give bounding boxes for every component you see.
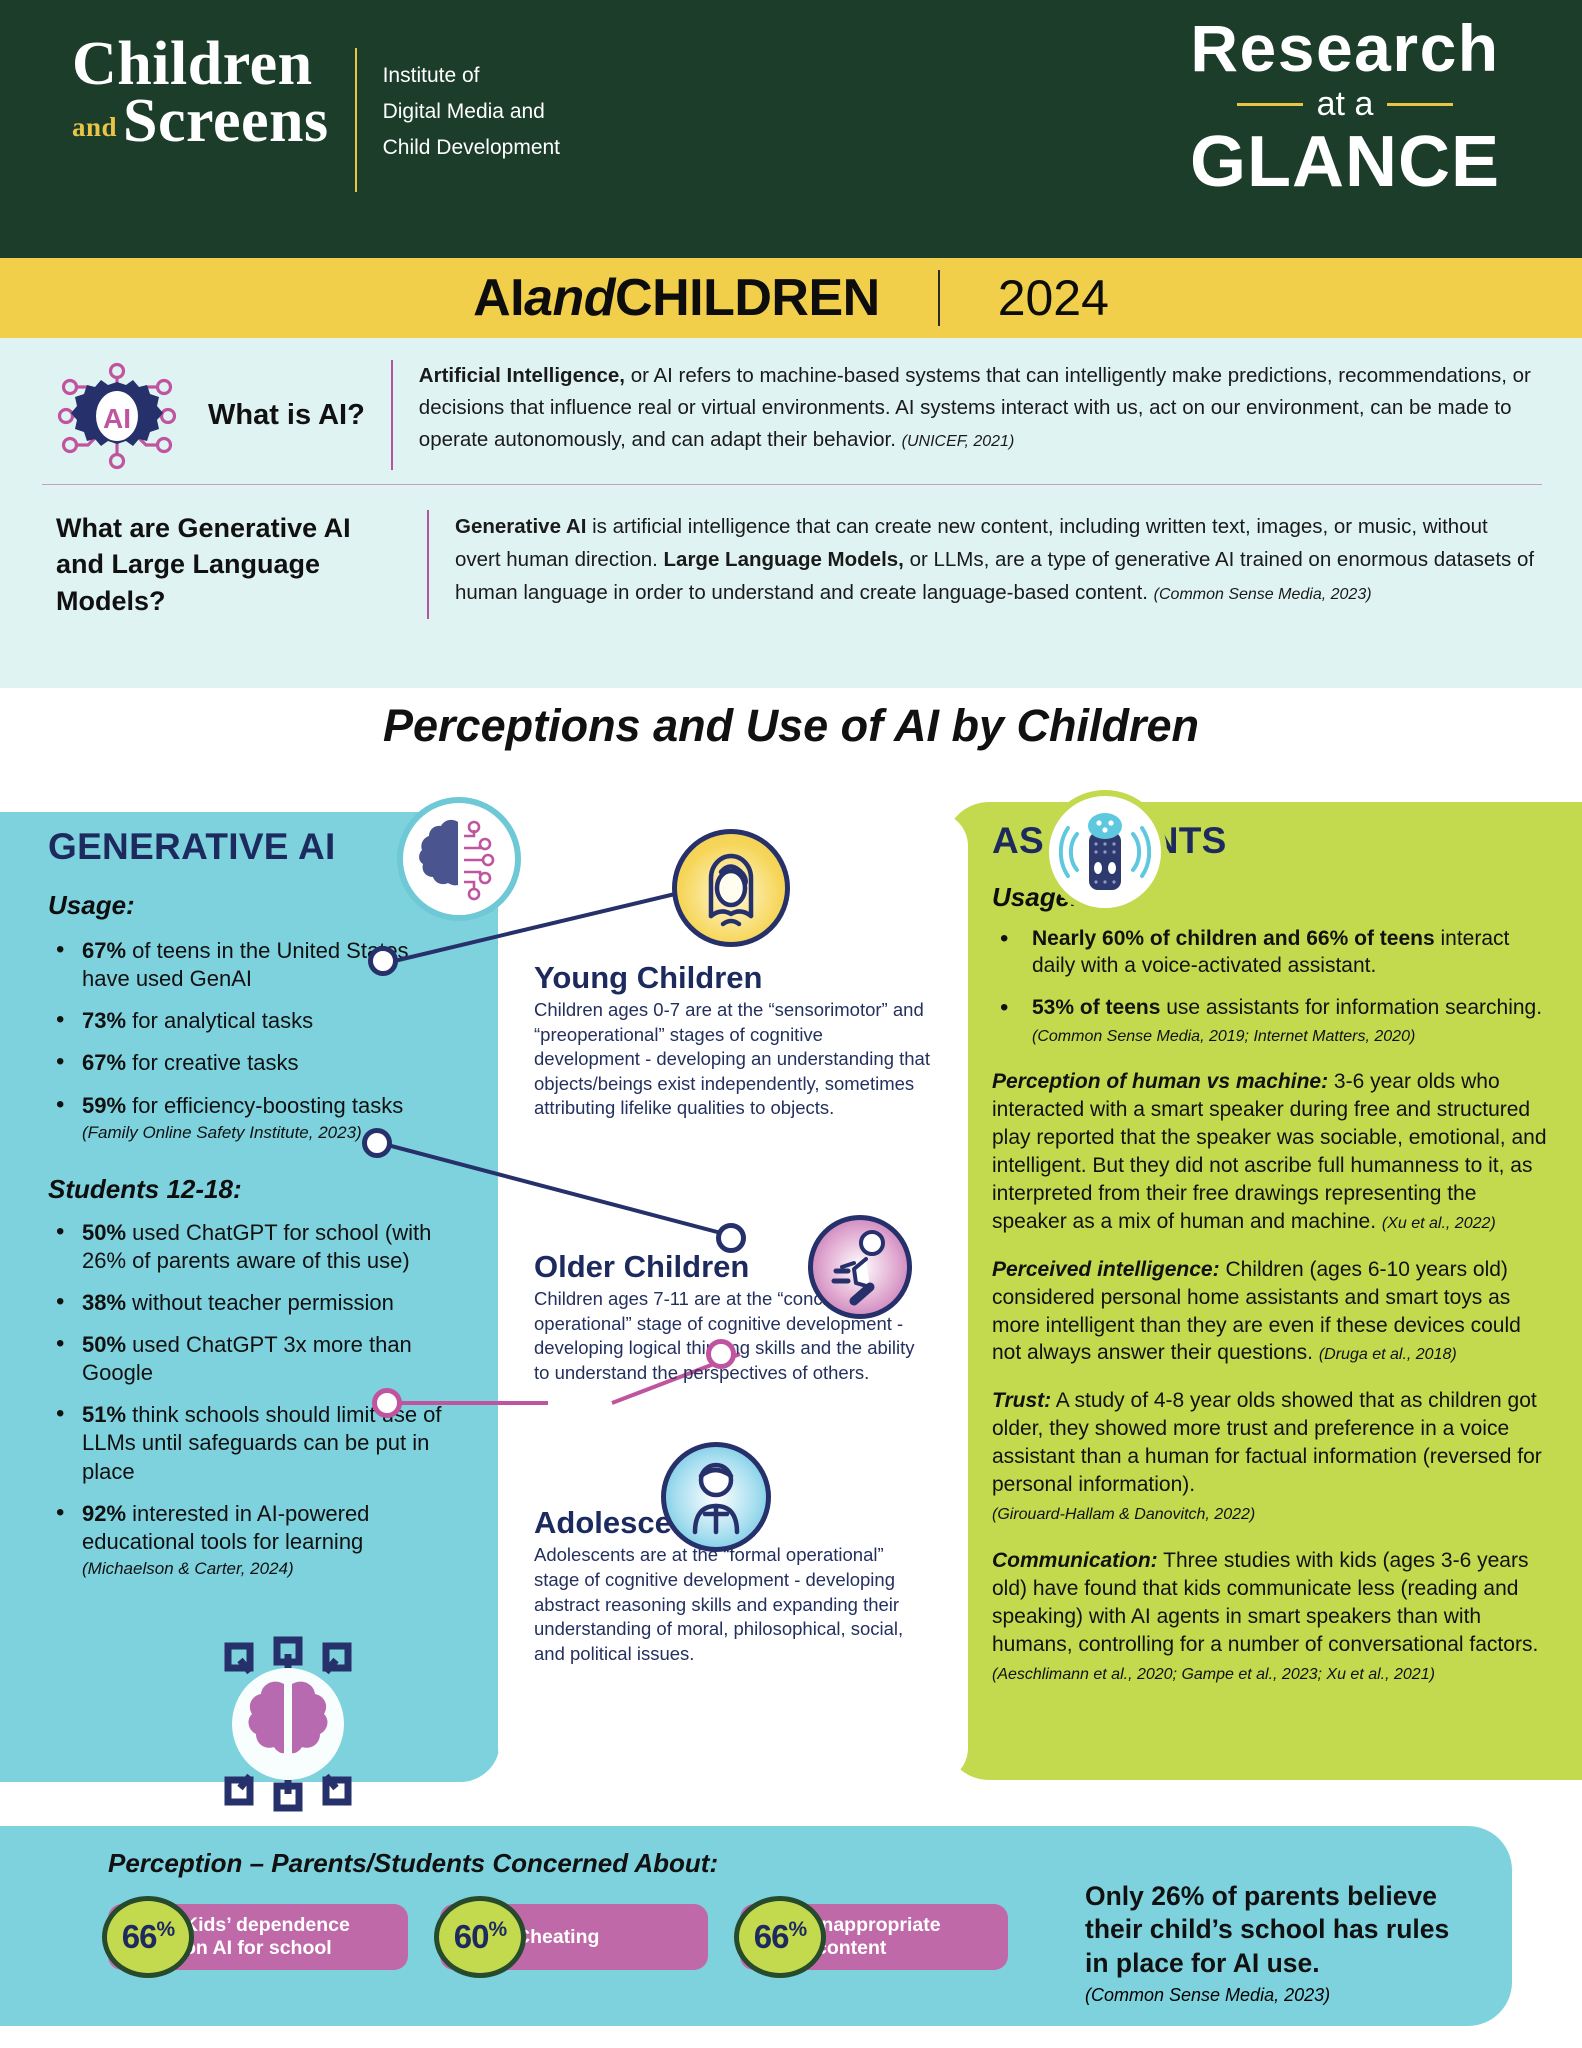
age-body-young: Children ages 0-7 are at the “sensorimot… [534,998,934,1121]
logo-line-screens: Screens [123,93,329,150]
pill-label-1-line1: Cheating [516,1926,599,1949]
concern-pill-cheating: Cheating 60% [440,1900,708,1974]
connector-node-adolescent-end [706,1339,736,1369]
genai-citation: (Common Sense Media, 2023) [1154,586,1372,603]
riag-at-a-text: at a [1317,85,1374,124]
pill-percent-value-2: 66 [754,1918,789,1955]
riag-rule-right [1387,103,1453,106]
pill-percent-2: 66% [754,1918,806,1956]
pill-label-0-line2: on AI for school [184,1937,350,1960]
what-is-ai-row: AI What is AI? Artificial Intelligence, … [42,360,1542,470]
generative-ai-definition-row: What are Generative AI and Large Languag… [56,510,1546,619]
pill-label-0: Kids’ dependence on AI for school [184,1914,350,1960]
title-and: and [524,269,615,327]
svg-text:AI: AI [103,403,131,434]
brain-circuit-icon [397,797,521,921]
genai-bold-2: Large Language Models, [664,548,904,571]
logo-subtitle-line-2: Digital Media and [383,94,560,130]
infographic-page: Children and Screens Institute of Digita… [0,0,1582,2048]
smart-speaker-icon [1043,790,1167,914]
only26-line2: their child’s school has rules [1085,1913,1515,1946]
logo-subtitle-line-3: Child Development [383,130,560,166]
young-child-icon [672,829,790,947]
definition-divider-1 [391,360,393,470]
connector-node-adolescent [372,1388,402,1418]
children-and-screens-logo: Children and Screens Institute of Digita… [72,36,560,192]
title-ai: AI [473,269,524,327]
what-is-ai-label: What is AI? [208,399,365,432]
pill-percent-circle-2: 66% [734,1896,826,1978]
perception-title: Perception – Parents/Students Concerned … [108,1848,718,1879]
definitions-horizontal-rule [42,484,1542,485]
pill-percent-circle-1: 60% [434,1896,526,1978]
age-body-adolescents: Adolescents are at the “formal operation… [534,1543,934,1666]
definition-divider-2 [427,510,429,619]
pill-label-2-line2: content [816,1937,941,1960]
research-at-a-glance-badge: Research at a GLANCE [1160,14,1530,198]
pill-percent-1: 60% [454,1918,506,1956]
only26-citation: (Common Sense Media, 2023) [1085,1985,1515,2006]
definitions-section: AI What is AI? Artificial Intelligence, … [0,338,1582,688]
connector-node-older-end [716,1223,746,1253]
logo-subtitle-line-1: Institute of [383,58,560,94]
age-title-young: Young Children [534,960,934,996]
only26-line3: in place for AI use. [1085,1947,1515,1980]
connector-node-young [368,946,398,976]
only26-line1: Only 26% of parents believe [1085,1880,1515,1913]
adolescent-icon [661,1442,771,1552]
title-bar: AIandCHILDREN 2024 [0,258,1582,338]
title-children: CHILDREN [615,269,880,327]
page-header: Children and Screens Institute of Digita… [0,0,1582,258]
logo-line-children: Children [72,36,329,93]
title-year: 2024 [998,269,1109,327]
what-is-ai-bold: Artificial Intelligence, [419,364,625,387]
pill-percent-circle-0: 66% [102,1896,194,1978]
logo-wordmark: Children and Screens [72,36,329,150]
riag-rule-left [1237,103,1303,106]
what-is-ai-body: Artificial Intelligence, or AI refers to… [419,360,1542,470]
connector-node-older [362,1128,392,1158]
pill-label-2: Inappropriate content [816,1914,941,1960]
older-child-running-icon [808,1215,912,1319]
genai-bold-1: Generative AI [455,515,586,538]
pill-label-1: Cheating [516,1926,599,1949]
concern-pill-dependence: Kids’ dependence on AI for school 66% [108,1900,408,1974]
age-group-young-children: Young Children Children ages 0-7 are at … [534,960,934,1121]
what-is-ai-citation: (UNICEF, 2021) [902,433,1015,450]
page-title: AIandCHILDREN [473,268,880,328]
pill-percent-value-1: 60 [454,1918,489,1955]
pill-label-2-line1: Inappropriate [816,1914,941,1937]
riag-glance-text: GLANCE [1160,126,1530,198]
concern-pill-inappropriate: Inappropriate content 66% [740,1900,1008,1974]
section-title-perceptions: Perceptions and Use of AI by Children [0,700,1582,752]
ai-gear-network-icon: AI [42,360,192,470]
logo-subtitle: Institute of Digital Media and Child Dev… [383,58,560,166]
pill-label-0-line1: Kids’ dependence [184,1914,350,1937]
logo-divider [355,48,357,192]
generative-ai-definition-label: What are Generative AI and Large Languag… [56,510,401,619]
riag-research-text: Research [1160,14,1530,83]
concern-pill-row: Kids’ dependence on AI for school 66% Ch… [108,1900,1008,1974]
only-26-percent-callout: Only 26% of parents believe their child’… [1085,1880,1515,2006]
generative-ai-definition-body: Generative AI is artificial intelligence… [455,510,1535,619]
pill-percent-0: 66% [122,1918,174,1956]
title-separator [938,270,940,326]
logo-and: and [72,115,117,150]
pill-percent-value-0: 66 [122,1918,157,1955]
